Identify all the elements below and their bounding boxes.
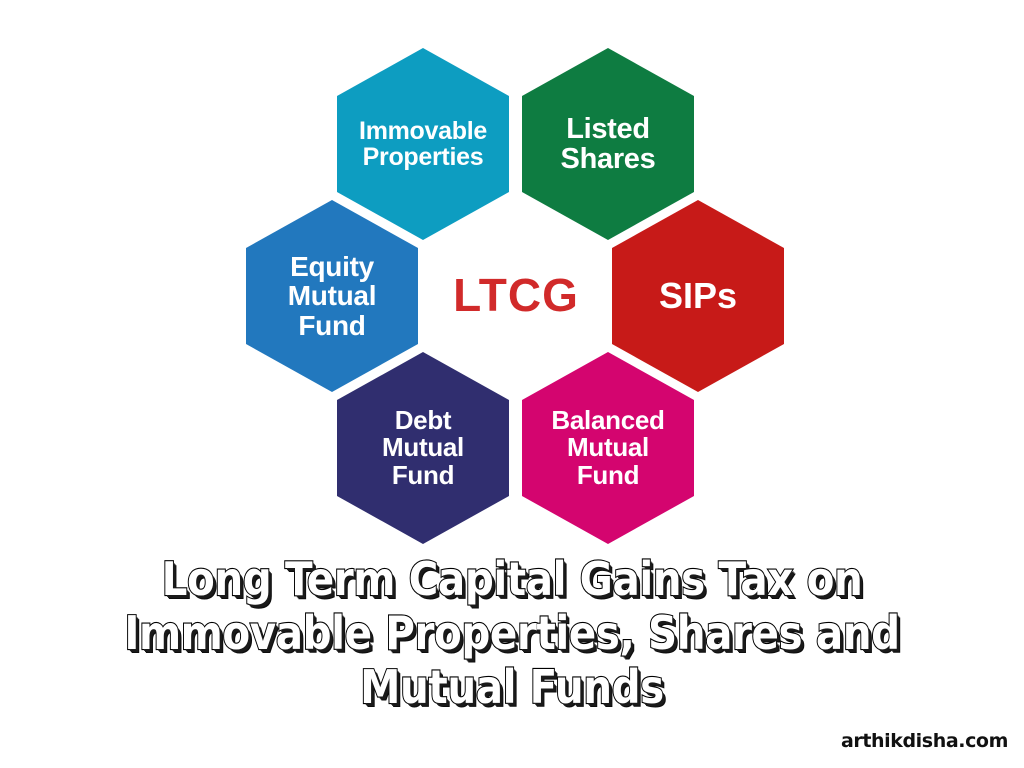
watermark-arthikdisha: arthikdisha.com [841, 730, 1008, 752]
hex-line-2: Mutual [382, 432, 464, 462]
hexagon-immovable-properties[interactable]: ImmovableProperties [337, 48, 509, 240]
hexagon-sips[interactable]: SIPs [612, 200, 784, 392]
hexagon-listed-shares[interactable]: ListedShares [522, 48, 694, 240]
hexagon-label-equity-mutual-fund: EquityMutualFund [284, 252, 380, 339]
hex-line-1: Immovable [359, 117, 487, 145]
hex-line-2: Properties [363, 143, 484, 171]
title-line-3: Mutual Funds [61, 660, 962, 714]
hexagon-label-listed-shares: ListedShares [557, 114, 660, 174]
hex-line-1: SIPs [659, 275, 737, 316]
infographic-title: Long Term Capital Gains Tax on Immovable… [0, 552, 1024, 714]
hexagon-label-sips: SIPs [655, 277, 741, 314]
hex-line-1: Equity [290, 251, 374, 282]
hexagon-label-debt-mutual-fund: DebtMutualFund [378, 407, 468, 488]
hex-line-3: Fund [298, 310, 365, 341]
hexagon-cluster: ImmovableProperties ListedShares EquityM… [0, 0, 1024, 560]
title-line-1: Long Term Capital Gains Tax on [61, 552, 962, 606]
hexagon-balanced-mutual-fund[interactable]: BalancedMutualFund [522, 352, 694, 544]
hexagon-equity-mutual-fund[interactable]: EquityMutualFund [246, 200, 418, 392]
hex-line-2: Shares [561, 143, 656, 175]
hexagon-label-balanced-mutual-fund: BalancedMutualFund [547, 407, 668, 488]
hex-line-1: Balanced [551, 405, 664, 435]
hex-line-2: Mutual [567, 432, 649, 462]
hex-line-1: Listed [566, 113, 650, 145]
hex-line-1: Debt [395, 405, 452, 435]
infographic-canvas: ImmovableProperties ListedShares EquityM… [0, 0, 1024, 768]
hexagon-debt-mutual-fund[interactable]: DebtMutualFund [337, 352, 509, 544]
hex-line-2: Mutual [288, 280, 376, 311]
hexagon-label-immovable-properties: ImmovableProperties [355, 118, 491, 170]
hex-line-3: Fund [577, 460, 639, 490]
title-line-2: Immovable Properties, Shares and [61, 606, 962, 660]
hex-line-3: Fund [392, 460, 454, 490]
center-label-ltcg: LTCG [416, 258, 616, 332]
